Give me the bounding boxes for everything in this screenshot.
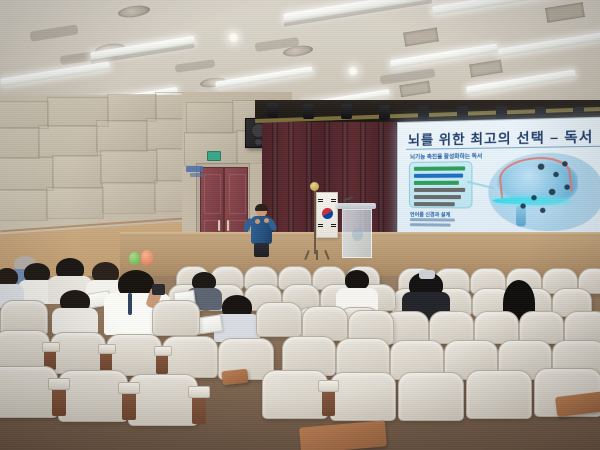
taeguk-symbol <box>322 208 333 219</box>
stage-light <box>418 105 429 120</box>
seat[interactable] <box>466 370 532 419</box>
lectern-emblem <box>352 228 363 241</box>
stage-light <box>303 104 314 119</box>
armrest-cap <box>154 346 172 356</box>
flag-finial <box>310 182 319 191</box>
slide-callout-box <box>409 161 472 208</box>
presenter <box>247 205 277 257</box>
armrest-cap <box>118 382 140 394</box>
ceiling-vent <box>117 4 150 19</box>
armrest-cap <box>98 344 116 354</box>
wall-notice-sign <box>190 173 203 177</box>
armrest-cap <box>42 342 60 352</box>
seat[interactable] <box>262 370 328 419</box>
armrest-cap <box>188 386 210 398</box>
presenter-hand <box>255 219 260 224</box>
ceiling-diffuser <box>469 60 503 78</box>
hair-clip <box>419 270 435 279</box>
brain-stem <box>516 206 526 227</box>
seat[interactable] <box>162 336 218 378</box>
ceiling-light <box>215 66 313 88</box>
stage-light <box>379 105 390 120</box>
ceiling-light <box>0 61 110 86</box>
lectern <box>339 203 373 256</box>
ceiling-light <box>498 31 600 56</box>
ceiling-diffuser <box>399 81 431 98</box>
seat[interactable] <box>0 366 58 418</box>
ceiling-downlight <box>348 66 358 76</box>
armrest-cap <box>318 380 339 392</box>
ceiling-diffuser <box>403 27 439 46</box>
flag-stand <box>306 250 328 260</box>
stage-light <box>457 106 468 121</box>
balloon-green <box>129 252 140 265</box>
presenter-hair <box>255 204 268 211</box>
presenter-hand <box>264 218 269 223</box>
armrest-cap <box>48 378 70 390</box>
wall-notice-sign <box>186 166 203 172</box>
seat[interactable] <box>256 302 302 337</box>
korean-flag-icon <box>316 192 338 238</box>
ceiling-diffuser <box>545 2 585 23</box>
camera-icon <box>152 284 165 295</box>
seat[interactable] <box>330 372 396 421</box>
auditorium-photo: 뇌를 위한 최고의 선택 – 독서 뇌기능 촉진을 활성화하는 독서 언어를 신… <box>0 0 600 450</box>
presenter-legs <box>254 243 269 257</box>
stage-light <box>341 104 352 119</box>
seat[interactable] <box>398 372 464 421</box>
seat[interactable] <box>152 300 200 336</box>
exit-sign <box>207 151 221 161</box>
stage-light <box>267 103 278 118</box>
ceiling-downlight <box>228 32 239 43</box>
brain-illustration <box>488 152 600 231</box>
polo-placket <box>128 293 132 315</box>
attendee-torso <box>52 308 98 334</box>
balloon-orange <box>141 250 153 265</box>
slide-subtitle: 뇌기능 촉진을 활성화하는 독서 <box>410 152 482 161</box>
lectern-body <box>342 209 372 258</box>
folding-tablet-desk[interactable] <box>221 369 248 386</box>
